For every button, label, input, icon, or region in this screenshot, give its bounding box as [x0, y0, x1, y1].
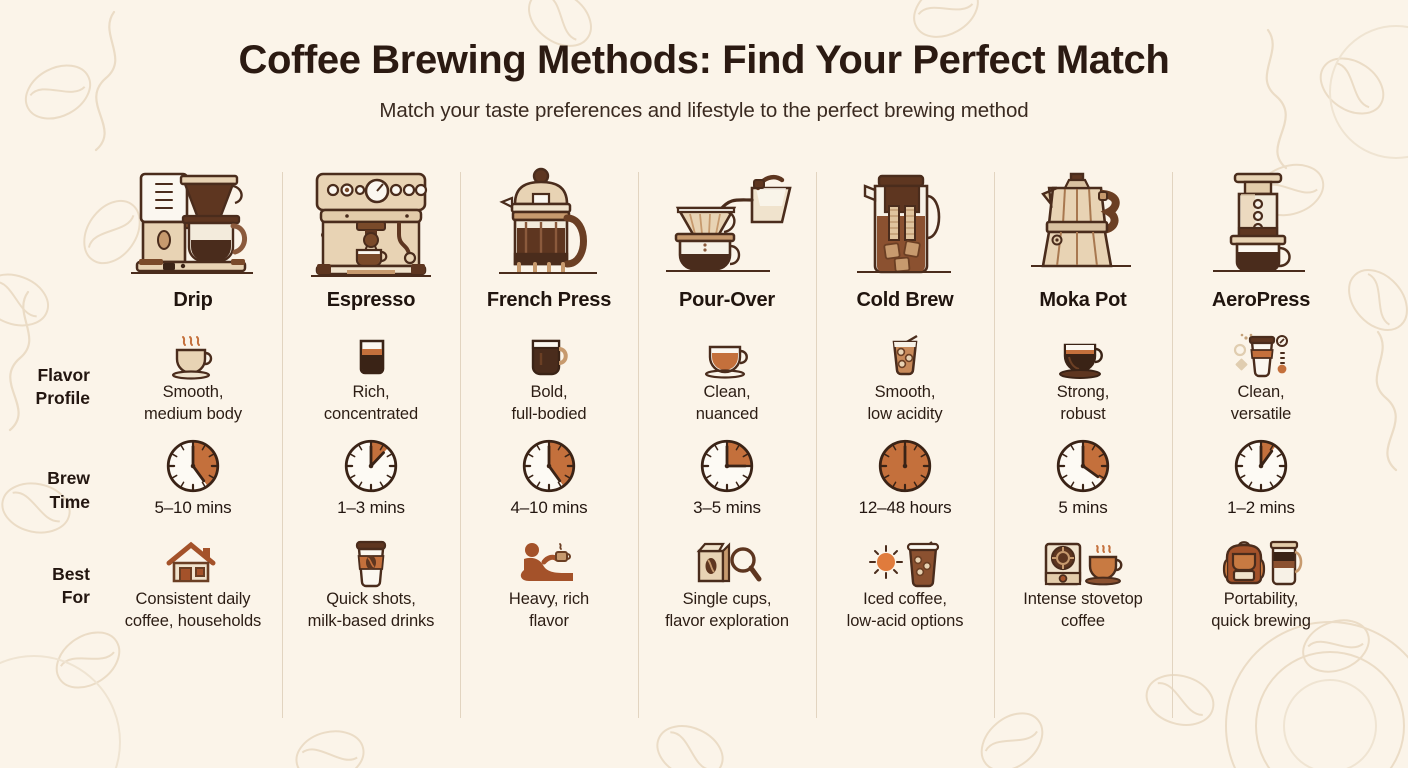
comparison-grid: Drip	[0, 166, 1408, 718]
flavor-text: Rich, concentrated	[324, 382, 418, 426]
brew-time-value: 5–10 mins	[154, 498, 231, 518]
grid-spacer	[1350, 438, 1408, 543]
best-for-text: Heavy, rich flavor	[509, 589, 589, 633]
steaming-cup-saucer-icon	[167, 336, 219, 378]
clock-icon	[699, 438, 755, 494]
house-icon	[165, 543, 221, 585]
reclining-person-with-cup-icon	[516, 543, 582, 585]
method-name: Cold Brew	[856, 284, 953, 310]
column-divider	[1172, 172, 1173, 718]
best-cell-cold-brew: Iced coffee, low-acid options	[816, 543, 994, 665]
page-title: Coffee Brewing Methods: Find Your Perfec…	[0, 38, 1408, 83]
brew-time-value: 3–5 mins	[693, 498, 761, 518]
flavor-cell-drip: Smooth, medium body	[104, 336, 282, 438]
coffee-bag-magnifier-icon	[691, 543, 763, 585]
brew-cell-cold-brew: 12–48 hours	[816, 438, 994, 543]
best-cell-espresso: Quick shots, milk-based drinks	[282, 543, 460, 665]
clock-icon	[1055, 438, 1111, 494]
clock-icon	[165, 438, 221, 494]
method-hero-moka-pot: Moka Pot	[994, 166, 1172, 286]
best-cell-aeropress: Portability, quick brewing	[1172, 543, 1350, 665]
grid-spacer	[1350, 166, 1408, 286]
iced-coffee-glass-straw-icon	[885, 336, 925, 378]
moka-pot-icon	[994, 166, 1172, 284]
flavor-cell-pour-over: Clean, nuanced	[638, 336, 816, 438]
clock-icon	[877, 438, 933, 494]
grid-spacer	[1350, 543, 1408, 665]
flavor-text: Clean, nuanced	[696, 382, 759, 426]
dark-mug-icon	[527, 336, 571, 378]
method-hero-aeropress: AeroPress	[1172, 166, 1350, 286]
takeaway-cup-shapes-icon	[1230, 336, 1292, 378]
pour-over-kettle-dripper-icon	[638, 166, 816, 284]
best-for-text: Portability, quick brewing	[1211, 589, 1311, 633]
method-name: Pour-Over	[679, 284, 775, 310]
flavor-text: Smooth, low acidity	[867, 382, 942, 426]
french-press-icon	[460, 166, 638, 284]
flavor-cell-cold-brew: Smooth, low acidity	[816, 336, 994, 438]
brew-cell-french-press: 4–10 mins	[460, 438, 638, 543]
flavor-text: Bold, full-bodied	[511, 382, 586, 426]
row-label-flavor-profile: Flavor Profile	[0, 336, 104, 438]
clock-icon	[343, 438, 399, 494]
dark-espresso-cup-saucer-icon	[1056, 336, 1110, 378]
flavor-cell-french-press: Bold, full-bodied	[460, 336, 638, 438]
light-cup-saucer-icon	[700, 336, 754, 378]
flavor-cell-espresso: Rich, concentrated	[282, 336, 460, 438]
column-divider	[994, 172, 995, 718]
method-hero-espresso: Espresso	[282, 166, 460, 286]
method-name: Drip	[173, 284, 212, 310]
best-for-text: Iced coffee, low-acid options	[847, 589, 964, 633]
brew-time-value: 5 mins	[1058, 498, 1107, 518]
best-cell-moka-pot: Intense stovetop coffee	[994, 543, 1172, 665]
method-name: Moka Pot	[1039, 284, 1126, 310]
grid-spacer	[1350, 336, 1408, 438]
best-for-text: Quick shots, milk-based drinks	[308, 589, 435, 633]
column-divider	[638, 172, 639, 718]
infographic-page: { "header": { "title": "Coffee Brewing M…	[0, 0, 1408, 768]
espresso-shot-glass-icon	[351, 336, 391, 378]
best-for-text: Intense stovetop coffee	[1023, 589, 1142, 633]
grid-corner-spacer	[0, 166, 104, 286]
method-name: Espresso	[327, 284, 415, 310]
flavor-text: Smooth, medium body	[144, 382, 242, 426]
aeropress-icon	[1172, 166, 1350, 284]
column-divider	[460, 172, 461, 718]
stove-burner-steaming-cup-icon	[1042, 543, 1124, 585]
column-divider	[816, 172, 817, 718]
clock-icon	[1233, 438, 1289, 494]
cold-brew-pitcher-icon	[816, 166, 994, 284]
flavor-text: Clean, versatile	[1231, 382, 1292, 426]
best-cell-pour-over: Single cups, flavor exploration	[638, 543, 816, 665]
method-hero-cold-brew: Cold Brew	[816, 166, 994, 286]
espresso-machine-icon	[282, 166, 460, 284]
column-divider	[282, 172, 283, 718]
brew-cell-moka-pot: 5 mins	[994, 438, 1172, 543]
method-name: French Press	[487, 284, 611, 310]
row-label-brew-time: Brew Time	[0, 438, 104, 543]
method-hero-pour-over: Pour-Over	[638, 166, 816, 286]
brew-time-value: 12–48 hours	[859, 498, 952, 518]
page-subtitle: Match your taste preferences and lifesty…	[0, 99, 1408, 123]
best-cell-french-press: Heavy, rich flavor	[460, 543, 638, 665]
method-hero-french-press: French Press	[460, 166, 638, 286]
brew-cell-pour-over: 3–5 mins	[638, 438, 816, 543]
method-hero-drip: Drip	[104, 166, 282, 286]
best-cell-drip: Consistent daily coffee, households	[104, 543, 282, 665]
clock-icon	[521, 438, 577, 494]
backpack-travel-mug-icon	[1219, 543, 1303, 585]
drip-coffee-maker-icon	[104, 166, 282, 284]
brew-time-value: 1–2 mins	[1227, 498, 1295, 518]
brew-time-value: 1–3 mins	[337, 498, 405, 518]
method-name: AeroPress	[1212, 284, 1310, 310]
best-for-text: Single cups, flavor exploration	[665, 589, 789, 633]
flavor-cell-moka-pot: Strong, robust	[994, 336, 1172, 438]
header: Coffee Brewing Methods: Find Your Perfec…	[0, 0, 1408, 123]
flavor-cell-aeropress: Clean, versatile	[1172, 336, 1350, 438]
brew-cell-drip: 5–10 mins	[104, 438, 282, 543]
best-for-text: Consistent daily coffee, households	[125, 589, 261, 633]
takeaway-cup-bean-icon	[350, 543, 392, 585]
brew-cell-espresso: 1–3 mins	[282, 438, 460, 543]
row-label-best-for: Best For	[0, 543, 104, 665]
brew-cell-aeropress: 1–2 mins	[1172, 438, 1350, 543]
flavor-text: Strong, robust	[1057, 382, 1110, 426]
brew-time-value: 4–10 mins	[510, 498, 587, 518]
sun-iced-drink-icon	[866, 543, 944, 585]
